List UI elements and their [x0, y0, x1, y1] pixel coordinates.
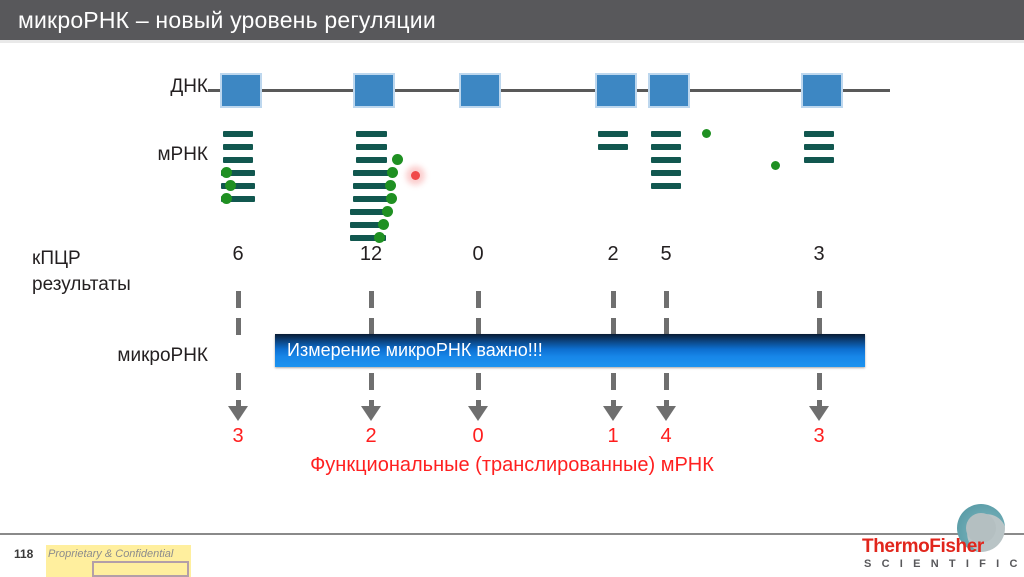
mrna-bar [804, 144, 834, 150]
dna-backbone-line [208, 89, 890, 92]
mrna-green-dot [702, 129, 711, 138]
mrna-bar [598, 131, 628, 137]
mrna-bar [356, 131, 387, 137]
mrna-green-dot [771, 161, 780, 170]
slide-body: ДНК мРНК кПЦР результаты микроРНК 612025… [0, 43, 1024, 533]
row-label-mrna: мРНК [157, 144, 208, 166]
dash-segment [236, 373, 241, 390]
mrna-green-dot [382, 206, 393, 217]
red-marker-dot [411, 171, 420, 180]
qpcr-value-2: 12 [351, 243, 391, 266]
mrna-bar [651, 131, 681, 137]
qpcr-value-6: 3 [799, 243, 839, 266]
mrna-bar [353, 183, 389, 189]
mrna-bar [651, 183, 681, 189]
dash-segment [817, 291, 822, 308]
qpcr-value-4: 2 [593, 243, 633, 266]
dash-segment [611, 291, 616, 308]
title-banner: микроРНК – новый уровень регуляции [0, 0, 1024, 40]
mrna-green-dot [385, 180, 396, 191]
dash-segment [476, 318, 481, 335]
down-arrow-icon-2 [361, 406, 381, 421]
mrna-green-dot [374, 232, 385, 243]
mrna-bar [651, 157, 681, 163]
footer-divider [0, 533, 1024, 535]
row-label-dna: ДНК [170, 76, 208, 98]
mrna-green-dot [386, 193, 397, 204]
result-value-2: 2 [351, 425, 391, 448]
mrna-bar [353, 170, 389, 176]
dash-segment [369, 291, 374, 308]
dna-gene-box-6 [801, 73, 843, 108]
mrna-bar [353, 196, 389, 202]
page-number: 118 [14, 547, 33, 561]
mrna-green-dot [392, 154, 403, 165]
mrna-green-dot [378, 219, 389, 230]
mrna-bar [223, 157, 253, 163]
logo-tagline: S C I E N T I F I C [864, 558, 1021, 570]
dash-segment [664, 291, 669, 308]
row-label-qpcr: кПЦР результаты [32, 246, 131, 298]
dna-gene-box-4 [595, 73, 637, 108]
mrna-bar [356, 157, 387, 163]
dash-segment [664, 373, 669, 390]
mrna-bar [598, 144, 628, 150]
page-title: микроРНК – новый уровень регуляции [18, 7, 436, 34]
mrna-green-dot [225, 180, 236, 191]
dash-segment [664, 318, 669, 335]
mrna-bar [651, 144, 681, 150]
dash-segment [236, 291, 241, 308]
result-value-6: 3 [799, 425, 839, 448]
mrna-bar [223, 131, 253, 137]
dash-segment [817, 373, 822, 390]
mrna-bar [804, 131, 834, 137]
thermofisher-logo: ThermoFisher S C I E N T I F I C [862, 536, 1014, 577]
mrna-green-dot [387, 167, 398, 178]
dash-segment [369, 373, 374, 390]
dash-segment [476, 373, 481, 390]
functional-mrna-caption: Функциональные (транслированные) мРНК [0, 454, 1024, 477]
confidential-note: Proprietary & Confidential [48, 548, 173, 560]
mirna-callout-banner: Измерение микроРНК важно!!! [275, 334, 865, 367]
yellow-inner-outline-box [92, 561, 189, 577]
mrna-bar [651, 170, 681, 176]
logo-wordmark: ThermoFisher [862, 536, 984, 558]
row-label-qpcr-line1: кПЦР [32, 246, 131, 272]
down-arrow-icon-5 [656, 406, 676, 421]
mrna-green-dot [221, 193, 232, 204]
down-arrow-icon-3 [468, 406, 488, 421]
qpcr-value-1: 6 [218, 243, 258, 266]
result-value-4: 1 [593, 425, 633, 448]
dash-segment [817, 318, 822, 335]
down-arrow-icon-1 [228, 406, 248, 421]
result-value-5: 4 [646, 425, 686, 448]
mirna-callout-text: Измерение микроРНК важно!!! [287, 340, 543, 361]
dash-segment [369, 318, 374, 335]
mrna-bar [356, 144, 387, 150]
qpcr-value-5: 5 [646, 243, 686, 266]
dash-segment [236, 318, 241, 335]
result-value-1: 3 [218, 425, 258, 448]
dash-segment [476, 291, 481, 308]
mrna-green-dot [221, 167, 232, 178]
result-value-3: 0 [458, 425, 498, 448]
dna-gene-box-3 [459, 73, 501, 108]
dna-gene-box-5 [648, 73, 690, 108]
dash-segment [611, 318, 616, 335]
row-label-mirna: микроРНК [117, 345, 208, 367]
dna-gene-box-2 [353, 73, 395, 108]
qpcr-value-3: 0 [458, 243, 498, 266]
down-arrow-icon-4 [603, 406, 623, 421]
mrna-bar [350, 209, 386, 215]
down-arrow-icon-6 [809, 406, 829, 421]
dna-gene-box-1 [220, 73, 262, 108]
dash-segment [611, 373, 616, 390]
row-label-qpcr-line2: результаты [32, 272, 131, 298]
mrna-bar [223, 144, 253, 150]
mrna-bar [804, 157, 834, 163]
